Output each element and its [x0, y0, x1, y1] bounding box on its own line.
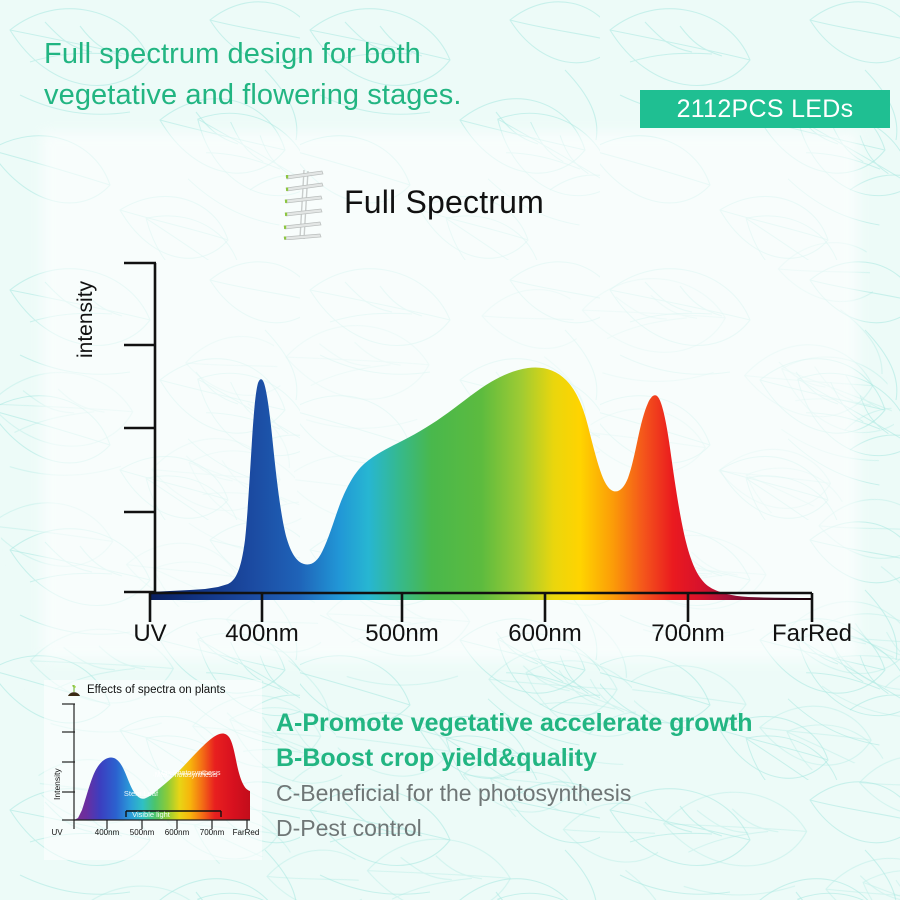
annotation-stem-leaf: Stem Leaf: [108, 789, 174, 798]
x-tick-label-400nm: 400nm: [207, 620, 317, 648]
inset-y-axis-label: Intensity: [52, 768, 62, 800]
list-item-c: C-Beneficial for the photosynthesis: [276, 776, 876, 811]
annotation-visible-light: Visible light: [118, 810, 184, 819]
spectrum-curve-area: [150, 368, 812, 601]
main-spectrum-chart: [0, 240, 900, 660]
x-tick-label-uv: UV: [110, 620, 190, 648]
inset-x-tick-farred: FarRed: [223, 828, 269, 837]
led-count-badge: 2112PCS LEDs: [640, 90, 890, 128]
led-bar-light-icon: [278, 168, 330, 240]
list-item-a: A-Promote vegetative accelerate growth: [276, 706, 876, 741]
annotation-max-photosynthesis: ·Max Photosynthesis: [152, 770, 224, 779]
x-tick-label-farred: FarRed: [752, 620, 872, 648]
headline-line-2: vegetative and flowering stages.: [44, 75, 624, 116]
benefits-list: A-Promote vegetative accelerate growth B…: [276, 706, 876, 846]
inset-title-text: Effects of spectra on plants: [87, 684, 226, 696]
inset-x-tick-uv: UV: [40, 828, 74, 837]
page-title: Full spectrum design for both vegetative…: [44, 34, 624, 116]
full-spectrum-title: Full Spectrum: [278, 168, 544, 240]
y-axis-label: intensity: [74, 281, 98, 358]
seedling-icon: [66, 683, 82, 697]
inset-title: Effects of spectra on plants: [66, 683, 226, 697]
list-item-b: B-Boost crop yield&quality: [276, 741, 876, 776]
y-axis-ticks: [124, 263, 156, 592]
header: Full spectrum design for both vegetative…: [0, 0, 900, 132]
list-item-d: D-Pest control: [276, 811, 876, 846]
x-tick-label-600nm: 600nm: [490, 620, 600, 648]
x-tick-label-500nm: 500nm: [347, 620, 457, 648]
x-tick-label-700nm: 700nm: [633, 620, 743, 648]
full-spectrum-label: Full Spectrum: [344, 184, 544, 225]
headline-line-1: Full spectrum design for both: [44, 38, 421, 70]
